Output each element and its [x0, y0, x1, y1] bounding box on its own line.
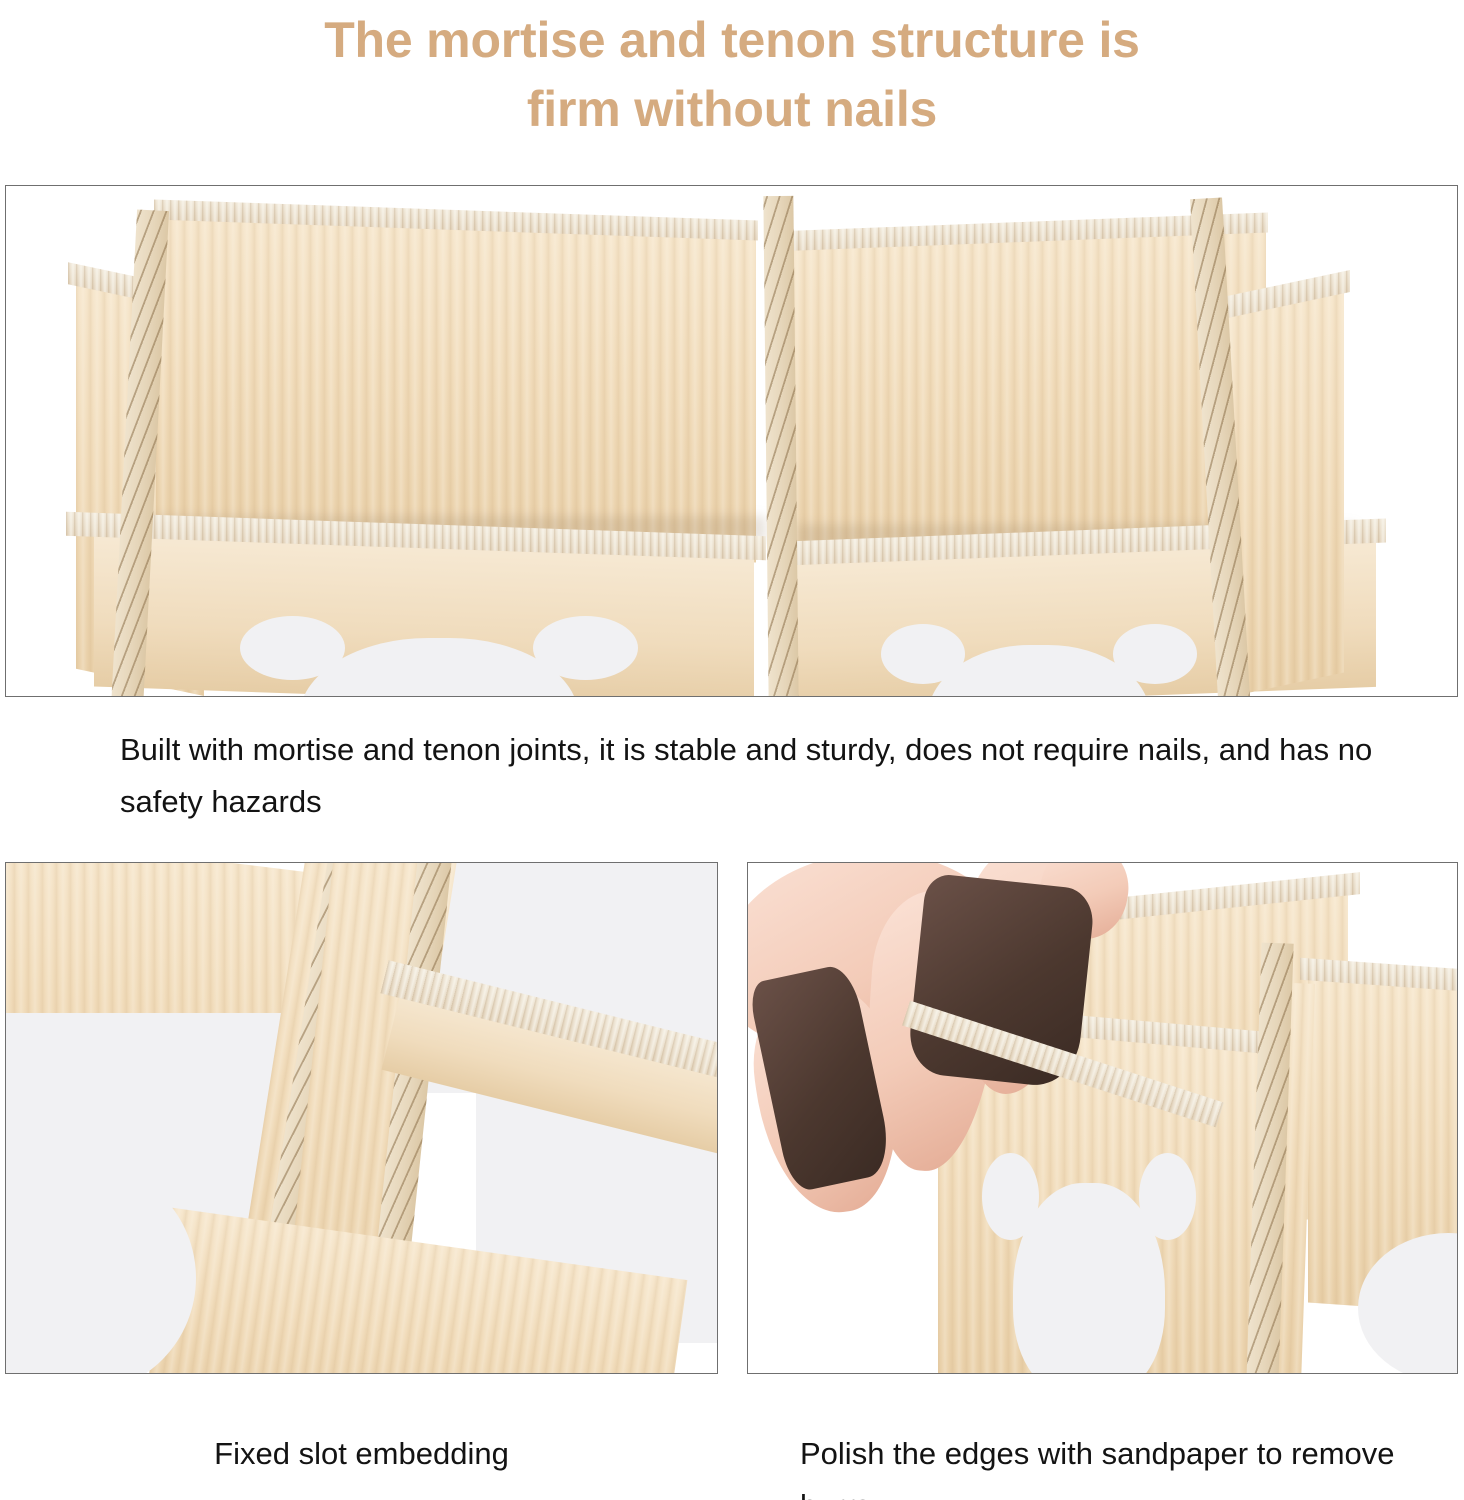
page-title: The mortise and tenon structure is firm … — [0, 6, 1464, 144]
infographic-page: The mortise and tenon structure is firm … — [0, 0, 1464, 1500]
product-photo-sandpaper-polish — [747, 862, 1458, 1374]
photo-scene-bottom-right — [748, 863, 1457, 1373]
bear-head-cutout-left — [244, 616, 634, 697]
page-title-line-1: The mortise and tenon structure is — [0, 6, 1464, 75]
bear-head-cutout-right — [884, 624, 1194, 697]
caption-mortise-tenon: Built with mortise and tenon joints, it … — [120, 724, 1390, 828]
mortise-tenon-joint-center-divider — [763, 196, 798, 697]
bear-head-cutout-front — [984, 1153, 1194, 1343]
product-photo-mortise-tenon — [5, 185, 1458, 697]
photo-scene-top — [6, 186, 1457, 696]
bear-face-icon — [1013, 1183, 1164, 1374]
caption-polish-edges: Polish the edges with sandpaper to remov… — [800, 1428, 1440, 1500]
product-photo-fixed-slot — [5, 862, 718, 1374]
wood-inner-right-panel — [776, 225, 1266, 562]
photo-scene-bottom-left — [6, 863, 717, 1373]
wood-inner-left-panel — [156, 212, 756, 563]
caption-fixed-slot-embedding: Fixed slot embedding — [5, 1428, 718, 1480]
page-title-line-2: firm without nails — [0, 75, 1464, 144]
